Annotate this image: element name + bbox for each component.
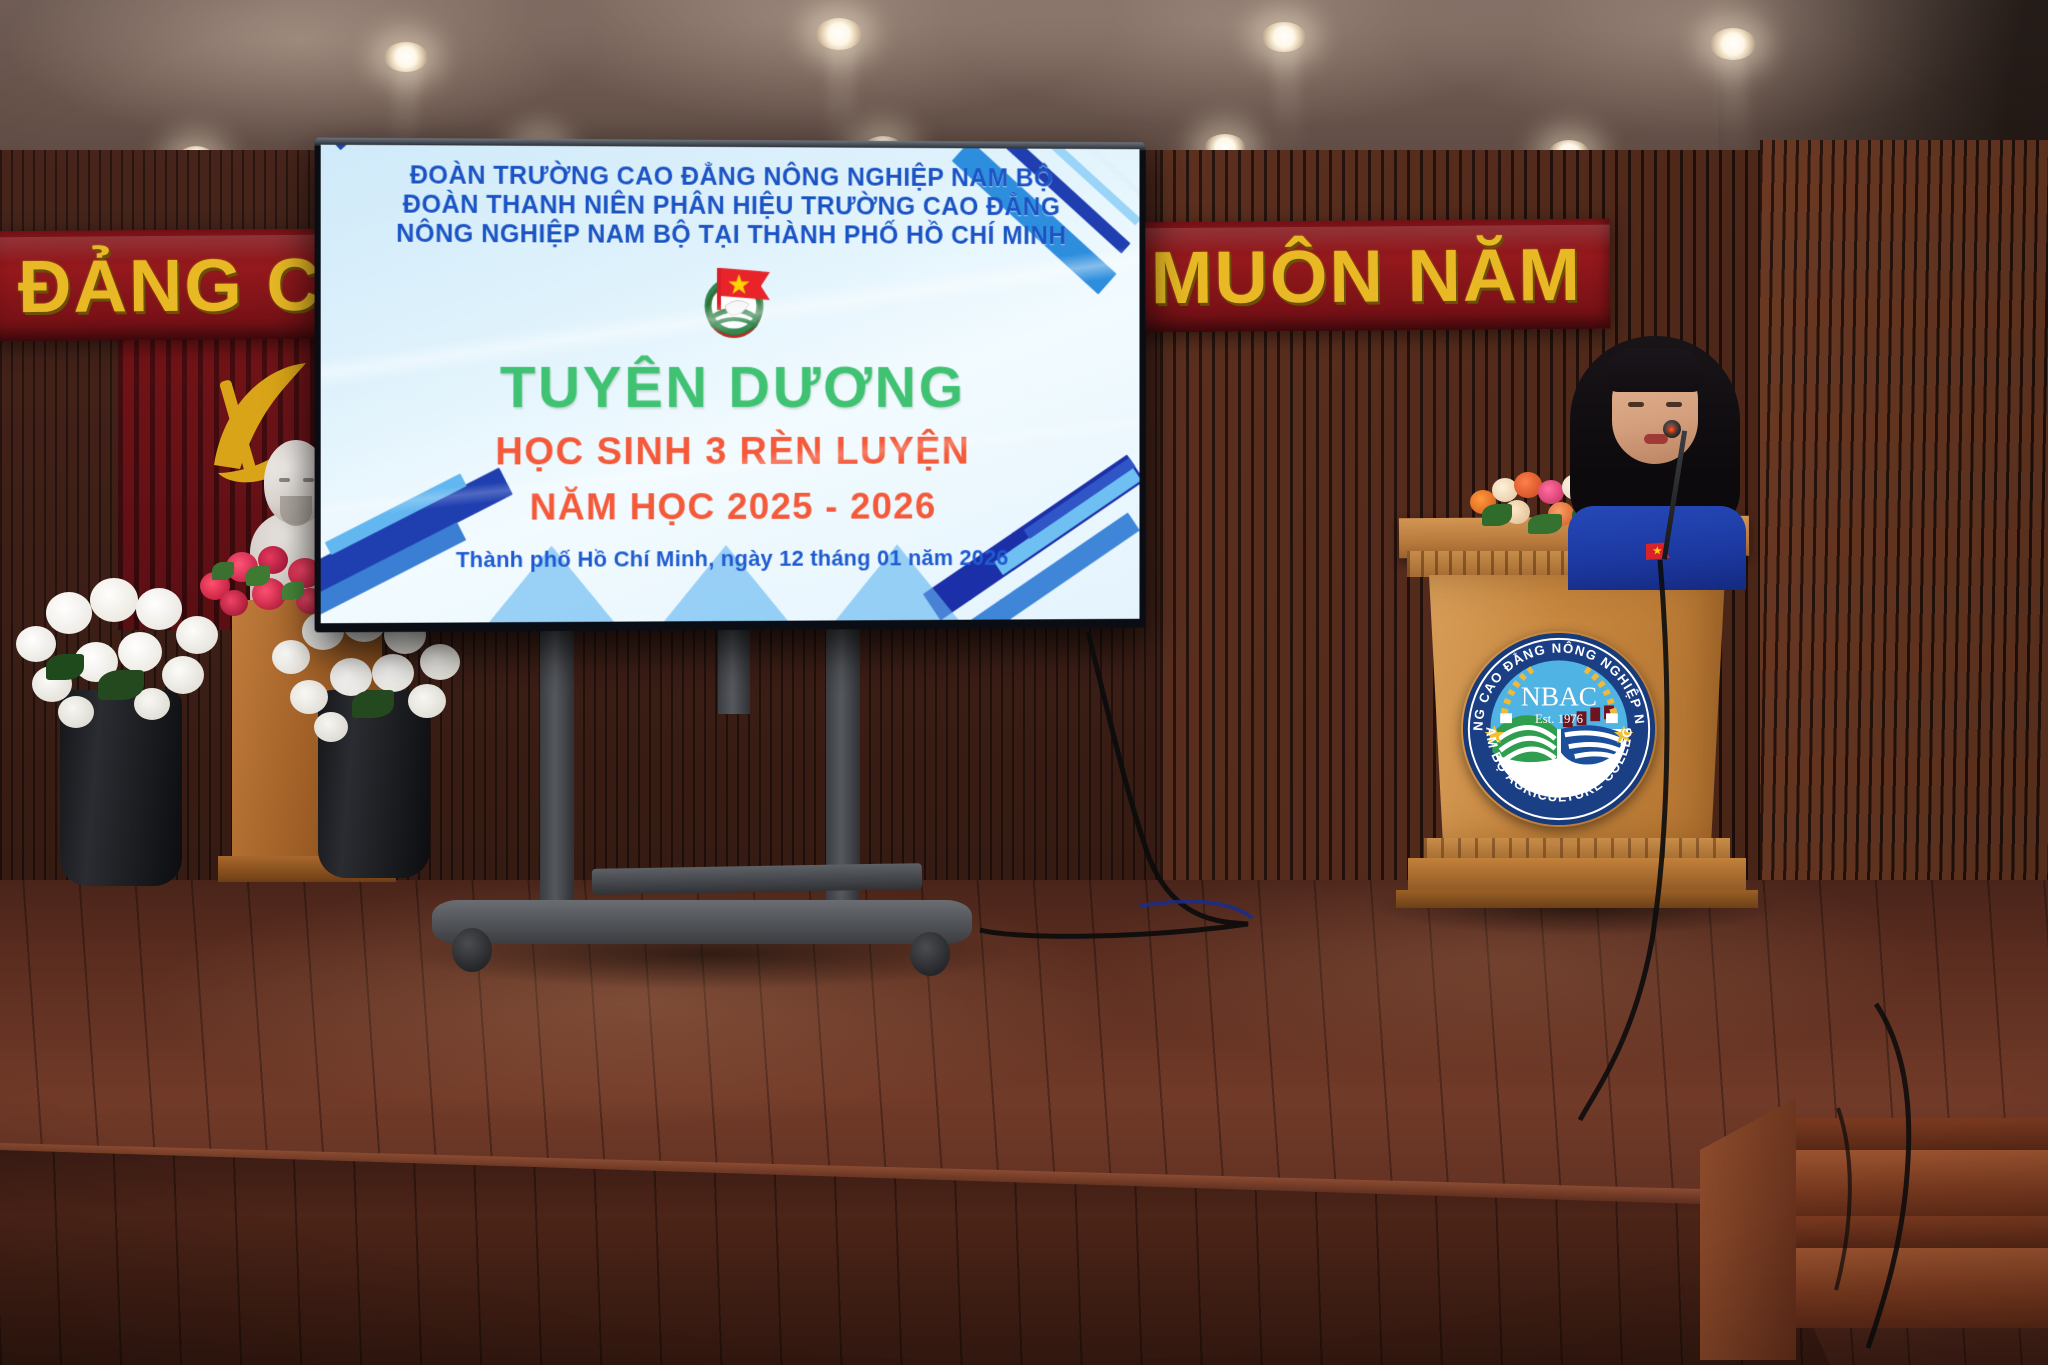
hall-scene: ĐẢNG CỘNG H MUÔN NĂM bbox=[0, 0, 2048, 1365]
floor-cable-left bbox=[0, 0, 2048, 1365]
